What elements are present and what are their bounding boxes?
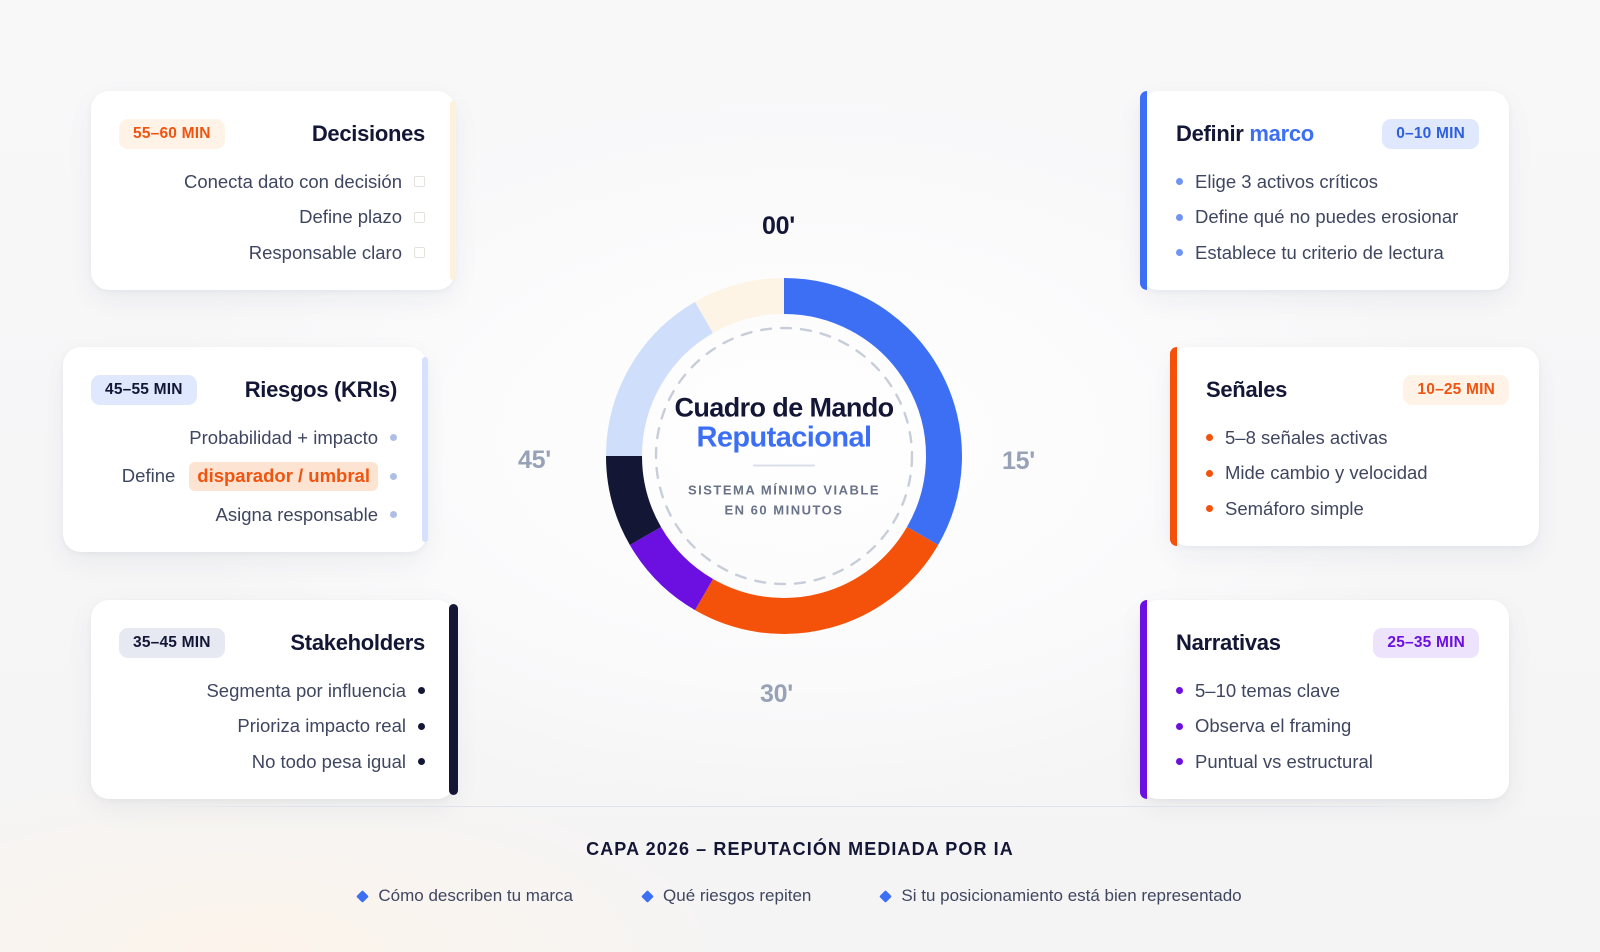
center-subtitle-line2: EN 60 MINUTOS bbox=[649, 500, 919, 520]
dot-bullet-icon bbox=[1206, 505, 1213, 512]
dot-bullet-icon bbox=[390, 473, 397, 480]
card-bullets-senales: 5–8 señales activas Mide cambio y veloci… bbox=[1206, 427, 1509, 521]
center-subtitle-line1: SISTEMA MÍNIMO VIABLE bbox=[649, 481, 919, 501]
card-title-plain: Definir bbox=[1176, 121, 1244, 146]
chip-narrativas-time: 25–35 MIN bbox=[1373, 628, 1479, 658]
center-title-line2: Reputacional bbox=[649, 423, 919, 455]
segment-decisiones bbox=[704, 296, 784, 317]
card-accent-edge-riesgos bbox=[422, 357, 428, 542]
list-item-highlight: Define disparador / umbral bbox=[91, 462, 397, 491]
infographic-canvas: Cuadro de Mando Reputacional SISTEMA MÍN… bbox=[0, 0, 1600, 952]
dot-bullet-icon bbox=[418, 758, 425, 765]
card-accent-edge-stakeholders bbox=[449, 604, 458, 795]
card-header: Señales 10–25 MIN bbox=[1206, 375, 1509, 405]
bullet-label: Define qué no puedes erosionar bbox=[1195, 206, 1458, 229]
diamond-icon bbox=[641, 890, 654, 903]
card-title-stakeholders: Stakeholders bbox=[290, 630, 425, 656]
chip-definir-marco-time: 0–10 MIN bbox=[1382, 119, 1479, 149]
footer-item: Cómo describen tu marca bbox=[358, 886, 573, 906]
card-narrativas[interactable]: Narrativas 25–35 MIN 5–10 temas clave Ob… bbox=[1140, 600, 1509, 799]
card-bullets-decisiones: Conecta dato con decisión Define plazo R… bbox=[119, 171, 425, 265]
footer-items: Cómo describen tu marca Qué riesgos repi… bbox=[0, 886, 1600, 906]
list-item: Elige 3 activos críticos bbox=[1176, 171, 1479, 194]
square-bullet-icon bbox=[414, 176, 425, 187]
card-riesgos[interactable]: 45–55 MIN Riesgos (KRIs) Probabilidad + … bbox=[63, 347, 427, 552]
footer-item-label: Qué riesgos repiten bbox=[663, 886, 811, 906]
dot-bullet-icon bbox=[1176, 723, 1183, 730]
list-item: Semáforo simple bbox=[1206, 498, 1509, 521]
list-item: Asigna responsable bbox=[91, 504, 397, 527]
footer-item: Si tu posicionamiento está bien represen… bbox=[881, 886, 1241, 906]
dot-bullet-icon bbox=[1176, 758, 1183, 765]
card-title-decisiones: Decisiones bbox=[312, 121, 425, 147]
square-bullet-icon bbox=[414, 247, 425, 258]
clock-label-30: 30' bbox=[760, 680, 793, 709]
dot-bullet-icon bbox=[1176, 687, 1183, 694]
highlight-mark: disparador / umbral bbox=[189, 462, 378, 491]
footer-divider bbox=[132, 806, 1468, 807]
bullet-label: No todo pesa igual bbox=[252, 751, 406, 774]
card-header: Definir marco 0–10 MIN bbox=[1176, 119, 1479, 149]
center-divider bbox=[753, 465, 815, 467]
card-bullets-narrativas: 5–10 temas clave Observa el framing Punt… bbox=[1176, 680, 1479, 774]
footer-item-label: Cómo describen tu marca bbox=[378, 886, 573, 906]
center-subtitle: SISTEMA MÍNIMO VIABLE EN 60 MINUTOS bbox=[649, 481, 919, 520]
list-item: Puntual vs estructural bbox=[1176, 751, 1479, 774]
bullet-label: Responsable claro bbox=[249, 242, 402, 265]
bullet-label: Semáforo simple bbox=[1225, 498, 1364, 521]
list-item: Define qué no puedes erosionar bbox=[1176, 206, 1479, 229]
chip-stakeholders-time: 35–45 MIN bbox=[119, 628, 225, 658]
footer-item-label: Si tu posicionamiento está bien represen… bbox=[901, 886, 1241, 906]
card-title-definir-marco: Definir marco bbox=[1176, 121, 1314, 147]
card-bullets-riesgos: Probabilidad + impacto Define disparador… bbox=[91, 427, 397, 527]
dot-bullet-icon bbox=[1206, 434, 1213, 441]
list-item: Mide cambio y velocidad bbox=[1206, 462, 1509, 485]
dot-bullet-icon bbox=[1176, 178, 1183, 185]
list-item: 5–10 temas clave bbox=[1176, 680, 1479, 703]
bullet-label: Segmenta por influencia bbox=[206, 680, 406, 703]
clock-label-00: 00' bbox=[762, 212, 795, 241]
card-stakeholders[interactable]: 35–45 MIN Stakeholders Segmenta por infl… bbox=[91, 600, 455, 799]
bullet-label: Prioriza impacto real bbox=[237, 715, 406, 738]
card-title-accent: marco bbox=[1249, 121, 1314, 146]
card-accent-edge-narrativas bbox=[1140, 600, 1147, 799]
diamond-icon bbox=[880, 890, 893, 903]
bullet-label: Probabilidad + impacto bbox=[189, 427, 378, 450]
footer-item: Qué riesgos repiten bbox=[643, 886, 811, 906]
bullet-label: Observa el framing bbox=[1195, 715, 1351, 738]
bullet-label: Elige 3 activos críticos bbox=[1195, 171, 1378, 194]
card-header: 35–45 MIN Stakeholders bbox=[119, 628, 425, 658]
donut-chart: Cuadro de Mando Reputacional SISTEMA MÍN… bbox=[576, 248, 992, 664]
dot-bullet-icon bbox=[1206, 470, 1213, 477]
list-item: Prioriza impacto real bbox=[119, 715, 425, 738]
footer-title: CAPA 2026 – REPUTACIÓN MEDIADA POR IA bbox=[0, 839, 1600, 860]
list-item: No todo pesa igual bbox=[119, 751, 425, 774]
card-title-senales: Señales bbox=[1206, 377, 1287, 403]
square-bullet-icon bbox=[414, 212, 425, 223]
chip-senales-time: 10–25 MIN bbox=[1403, 375, 1509, 405]
list-item: Conecta dato con decisión bbox=[119, 171, 425, 194]
dot-bullet-icon bbox=[1176, 249, 1183, 256]
footer: CAPA 2026 – REPUTACIÓN MEDIADA POR IA Có… bbox=[0, 806, 1600, 906]
dot-bullet-icon bbox=[418, 723, 425, 730]
card-accent-edge-senales bbox=[1170, 347, 1177, 546]
list-item: 5–8 señales activas bbox=[1206, 427, 1509, 450]
clock-label-15: 15' bbox=[1002, 447, 1035, 476]
dot-bullet-icon bbox=[418, 687, 425, 694]
list-item: Establece tu criterio de lectura bbox=[1176, 242, 1479, 265]
diamond-icon bbox=[357, 890, 370, 903]
dot-bullet-icon bbox=[1176, 214, 1183, 221]
bullet-label: 5–8 señales activas bbox=[1225, 427, 1388, 450]
segment-stakeholders bbox=[624, 456, 645, 536]
dot-bullet-icon bbox=[390, 434, 397, 441]
chip-riesgos-time: 45–55 MIN bbox=[91, 375, 197, 405]
clock-label-45: 45' bbox=[518, 446, 551, 475]
card-bullets-stakeholders: Segmenta por influencia Prioriza impacto… bbox=[119, 680, 425, 774]
segment-narrativas bbox=[645, 536, 704, 595]
bullet-label: Puntual vs estructural bbox=[1195, 751, 1373, 774]
card-header: 45–55 MIN Riesgos (KRIs) bbox=[91, 375, 397, 405]
list-item: Observa el framing bbox=[1176, 715, 1479, 738]
center-title-line1: Cuadro de Mando bbox=[649, 392, 919, 422]
list-item: Probabilidad + impacto bbox=[91, 427, 397, 450]
list-item: Segmenta por influencia bbox=[119, 680, 425, 703]
bullet-label: Define plazo bbox=[299, 206, 402, 229]
card-header: 55–60 MIN Decisiones bbox=[119, 119, 425, 149]
bullet-label: 5–10 temas clave bbox=[1195, 680, 1340, 703]
bullet-label: Establece tu criterio de lectura bbox=[1195, 242, 1444, 265]
bullet-label: Asigna responsable bbox=[216, 504, 379, 527]
donut-center-label: Cuadro de Mando Reputacional SISTEMA MÍN… bbox=[649, 392, 919, 519]
card-senales[interactable]: Señales 10–25 MIN 5–8 señales activas Mi… bbox=[1170, 347, 1539, 546]
card-accent-edge-decisiones bbox=[450, 101, 456, 280]
card-definir-marco[interactable]: Definir marco 0–10 MIN Elige 3 activos c… bbox=[1140, 91, 1509, 290]
list-item: Define plazo bbox=[119, 206, 425, 229]
card-header: Narrativas 25–35 MIN bbox=[1176, 628, 1479, 658]
list-item: Responsable claro bbox=[119, 242, 425, 265]
card-title-narrativas: Narrativas bbox=[1176, 630, 1281, 656]
card-title-riesgos: Riesgos (KRIs) bbox=[245, 377, 397, 403]
bullet-label: Mide cambio y velocidad bbox=[1225, 462, 1428, 485]
chip-decisiones-time: 55–60 MIN bbox=[119, 119, 225, 149]
card-accent-edge-definir-marco bbox=[1140, 91, 1147, 290]
bullet-label-prefix: Define bbox=[122, 465, 175, 488]
card-decisiones[interactable]: 55–60 MIN Decisiones Conecta dato con de… bbox=[91, 91, 455, 290]
dot-bullet-icon bbox=[390, 511, 397, 518]
bullet-label: Conecta dato con decisión bbox=[184, 171, 402, 194]
card-bullets-definir-marco: Elige 3 activos críticos Define qué no p… bbox=[1176, 171, 1479, 265]
